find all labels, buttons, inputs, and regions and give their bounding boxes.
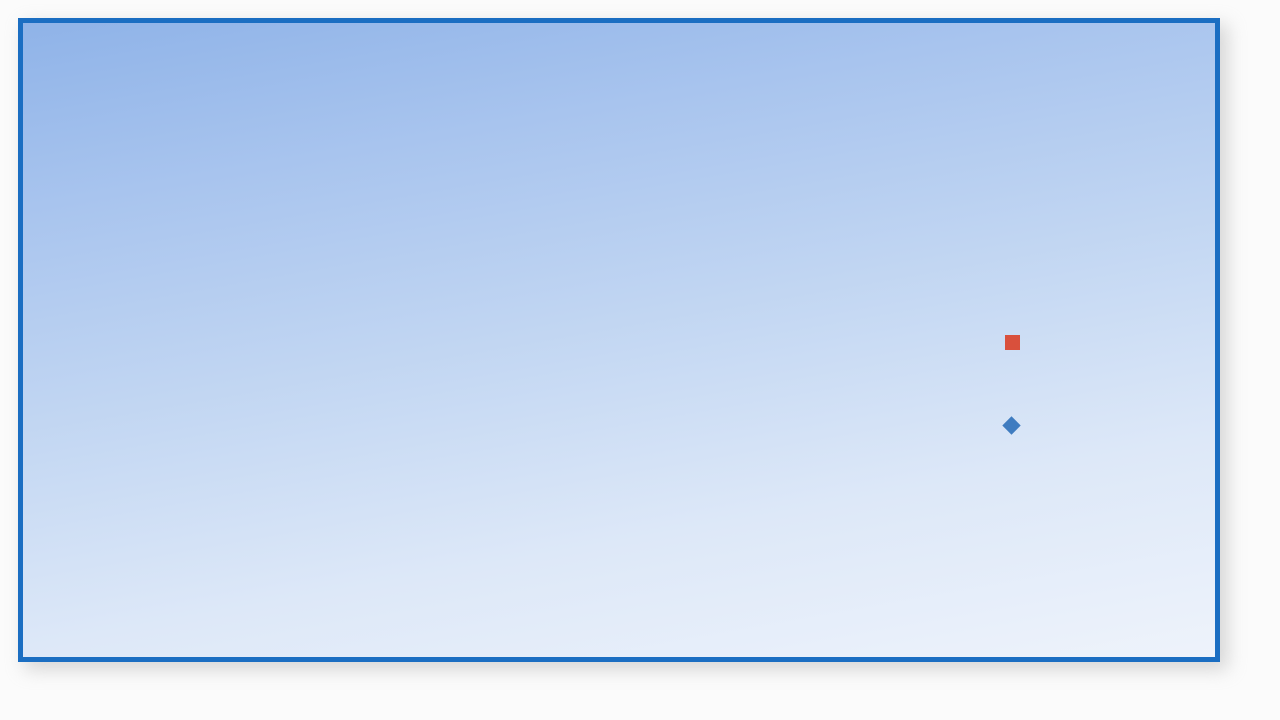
plot-svg xyxy=(123,126,1001,626)
legend-diamond-marker-icon xyxy=(1002,416,1020,434)
legend-square-marker-icon xyxy=(1005,335,1020,350)
legend-item-prikormka-zemlya[interactable] xyxy=(1005,419,1029,432)
legend-item-prikormka[interactable] xyxy=(1005,335,1031,350)
presentation-slide xyxy=(18,18,1220,662)
plot-area xyxy=(123,126,1001,626)
screenshot-root xyxy=(0,0,1280,720)
